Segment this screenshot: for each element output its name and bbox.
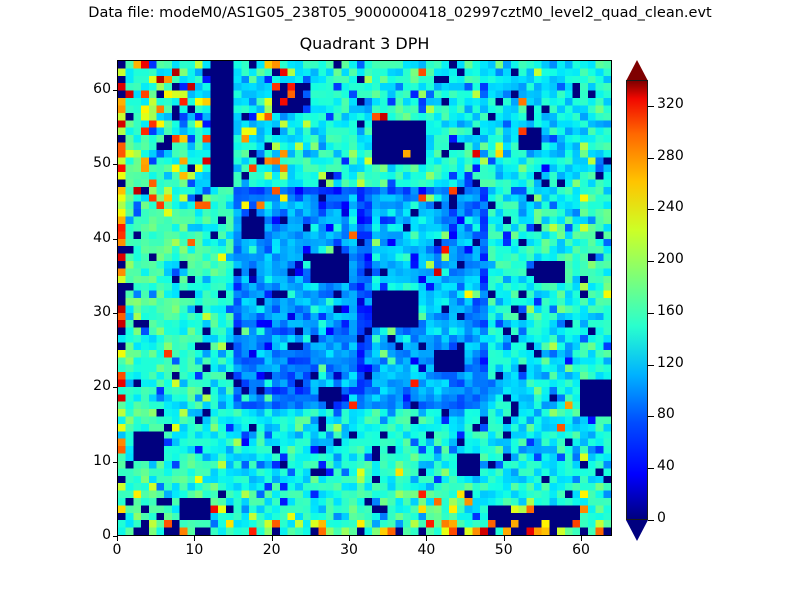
colorbar-tick-mark <box>648 313 654 314</box>
y-tick-mark <box>113 462 118 463</box>
x-tick-label: 20 <box>252 542 292 558</box>
y-tick-mark <box>113 313 118 314</box>
colorbar-tick-label: 200 <box>657 251 684 267</box>
detector-heatmap-image <box>118 61 611 535</box>
x-tick-mark <box>581 536 582 541</box>
x-tick-label: 40 <box>406 542 446 558</box>
data-file-label: Data file: modeM0/AS1G05_238T05_90000004… <box>0 5 800 21</box>
x-tick-label: 30 <box>329 542 369 558</box>
y-tick-label: 0 <box>75 527 111 543</box>
colorbar-tick-label: 160 <box>657 303 684 319</box>
x-tick-label: 60 <box>561 542 601 558</box>
y-tick-mark <box>113 164 118 165</box>
colorbar-tick-mark <box>648 106 654 107</box>
colorbar-tick-mark <box>648 520 654 521</box>
x-tick-label: 10 <box>174 542 214 558</box>
colorbar-tick-mark <box>648 416 654 417</box>
colorbar-tick-label: 120 <box>657 355 684 371</box>
colorbar-tick-mark <box>648 209 654 210</box>
plot-title: Quadrant 3 DPH <box>117 34 612 53</box>
colorbar-gradient <box>626 80 648 520</box>
colorbar-tick-label: 320 <box>657 96 684 112</box>
colorbar: 04080120160200240280320 <box>624 58 784 542</box>
colorbar-over-arrow <box>626 60 648 81</box>
x-tick-label: 50 <box>484 542 524 558</box>
colorbar-tick-label: 280 <box>657 148 684 164</box>
colorbar-tick-label: 40 <box>657 458 675 474</box>
matplotlib-figure: Data file: modeM0/AS1G05_238T05_90000004… <box>0 0 800 600</box>
colorbar-tick-label: 80 <box>657 406 675 422</box>
heatmap-axes <box>117 60 612 536</box>
x-tick-label: 0 <box>97 542 137 558</box>
y-axis-ticklabels: 0102030405060 <box>75 60 111 536</box>
y-tick-label: 40 <box>75 230 111 246</box>
colorbar-tick-mark <box>648 261 654 262</box>
y-tick-label: 20 <box>75 378 111 394</box>
colorbar-under-arrow <box>626 520 648 541</box>
x-tick-mark <box>349 536 350 541</box>
y-tick-label: 10 <box>75 453 111 469</box>
colorbar-tick-mark <box>648 365 654 366</box>
y-tick-mark <box>113 387 118 388</box>
x-axis-ticklabels: 0102030405060 <box>117 540 612 564</box>
y-tick-mark <box>113 90 118 91</box>
colorbar-tick-label: 0 <box>657 510 666 526</box>
colorbar-tick-mark <box>648 468 654 469</box>
x-tick-mark <box>117 536 118 541</box>
y-tick-label: 60 <box>75 81 111 97</box>
x-tick-mark <box>426 536 427 541</box>
colorbar-tick-mark <box>648 158 654 159</box>
y-tick-label: 50 <box>75 155 111 171</box>
x-tick-mark <box>504 536 505 541</box>
y-tick-label: 30 <box>75 304 111 320</box>
x-tick-mark <box>272 536 273 541</box>
x-tick-mark <box>194 536 195 541</box>
y-tick-mark <box>113 239 118 240</box>
colorbar-tick-label: 240 <box>657 199 684 215</box>
